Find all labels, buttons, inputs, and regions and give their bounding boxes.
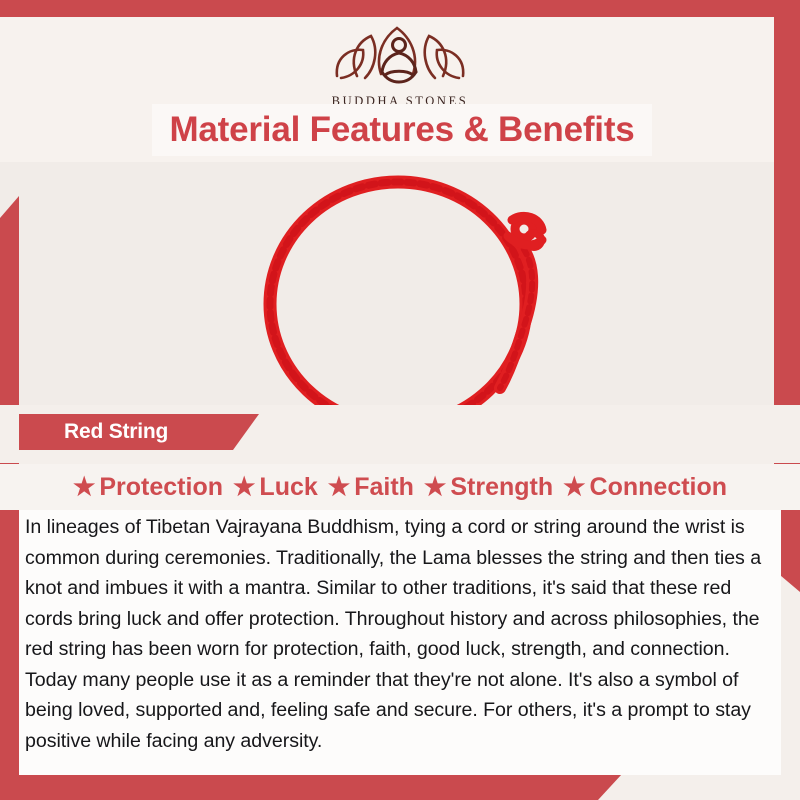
benefit-label: Protection <box>99 473 223 502</box>
star-icon: ★ <box>233 475 255 500</box>
lotus-meditation-figure-icon <box>325 20 475 92</box>
benefit-label: Luck <box>259 473 317 502</box>
benefit-item: ★ Connection <box>558 473 732 502</box>
top-accent-band <box>0 0 800 17</box>
benefit-item: ★ Faith <box>323 473 419 502</box>
red-string-bracelet-illustration <box>0 162 800 420</box>
bottom-accent-band <box>0 774 622 800</box>
brand-logo: BUDDHA STONES <box>295 20 505 109</box>
benefits-row: ★ Protection ★ Luck ★ Faith ★ Strength ★… <box>0 464 800 510</box>
benefit-item: ★ Protection <box>68 473 228 502</box>
star-icon: ★ <box>73 475 95 500</box>
description-text: In lineages of Tibetan Vajrayana Buddhis… <box>25 512 770 756</box>
benefit-label: Faith <box>354 473 414 502</box>
benefit-item: ★ Strength <box>419 473 558 502</box>
marketing-poster: BUDDHA STONES Material Features & Benefi… <box>0 0 800 800</box>
star-icon: ★ <box>328 475 350 500</box>
page-title: Material Features & Benefits <box>152 104 652 156</box>
benefit-label: Connection <box>590 473 728 502</box>
benefit-item: ★ Luck <box>228 473 323 502</box>
section-ribbon-label: Red String <box>64 414 168 450</box>
star-icon: ★ <box>563 475 585 500</box>
product-photo <box>0 162 800 420</box>
star-icon: ★ <box>424 475 446 500</box>
benefit-label: Strength <box>450 473 553 502</box>
